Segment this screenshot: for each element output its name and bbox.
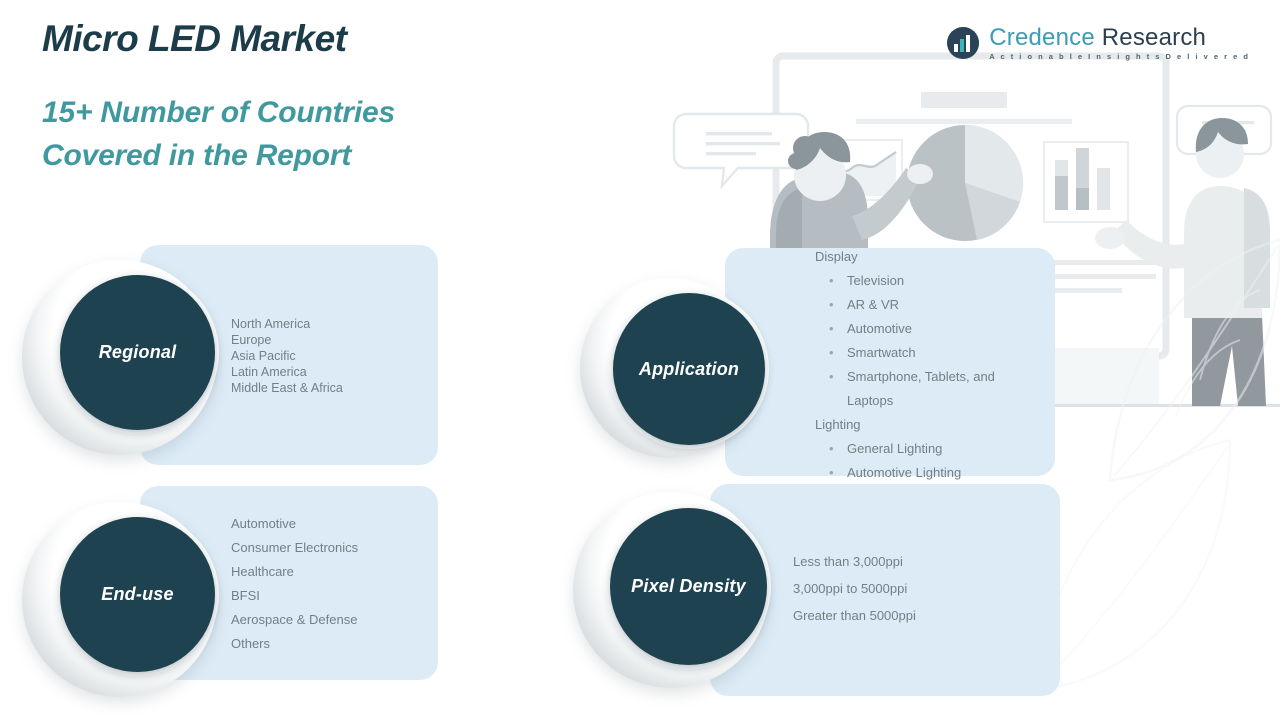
card-pixel-density-circle[interactable]: Pixel Density: [610, 508, 767, 665]
card-enduse: End-use Automotive Consumer Electronics …: [0, 482, 460, 710]
page-subtitle: 15+ Number of Countries Covered in the R…: [42, 91, 395, 178]
list-item: BFSI: [231, 584, 436, 608]
page-subtitle-line-2: Covered in the Report: [42, 134, 395, 178]
bullet-icon: •: [815, 341, 847, 365]
card-pixel-density-list: Less than 3,000ppi 3,000ppi to 5000ppi G…: [793, 548, 1043, 629]
card-enduse-circle[interactable]: End-use: [60, 517, 215, 672]
page-subtitle-line-1: 15+ Number of Countries: [42, 91, 395, 135]
list-item: Less than 3,000ppi: [793, 548, 1043, 575]
logo-text: Credence Research A c t i o n a b l e I …: [989, 26, 1250, 61]
card-pixel-density: Pixel Density Less than 3,000ppi 3,000pp…: [555, 470, 1075, 720]
leaf-watermark-icon: [1090, 230, 1280, 510]
list-item: • Smartwatch: [815, 341, 1075, 365]
group-heading-lighting: Lighting: [815, 413, 1075, 437]
list-item: • AR & VR: [815, 293, 1075, 317]
list-item: Healthcare: [231, 560, 436, 584]
list-item: Latin America: [231, 364, 436, 380]
title-block: Micro LED Market 15+ Number of Countries…: [42, 18, 395, 178]
card-application: Application Display • Television • AR & …: [555, 235, 1075, 485]
card-application-list: Display • Television • AR & VR • Automot…: [815, 245, 1075, 485]
bullet-icon: •: [815, 317, 847, 341]
list-item: Automotive: [231, 512, 436, 536]
list-item: Others: [231, 632, 436, 656]
page-title: Micro LED Market: [42, 18, 395, 61]
card-regional-list: North America Europe Asia Pacific Latin …: [231, 316, 436, 396]
card-regional-circle[interactable]: Regional: [60, 275, 215, 430]
group-heading-display: Display: [815, 245, 1075, 269]
logo-name-part2: Research: [1095, 24, 1206, 51]
card-enduse-list: Automotive Consumer Electronics Healthca…: [231, 512, 436, 656]
logo-name-part1: Credence: [989, 24, 1095, 51]
bullet-icon: •: [815, 293, 847, 317]
logo-tagline: A c t i o n a b l e I n s i g h t s D e …: [989, 53, 1250, 61]
list-item: Europe: [231, 332, 436, 348]
list-item: • Television: [815, 269, 1075, 293]
list-item: Aerospace & Defense: [231, 608, 436, 632]
brand-logo[interactable]: Credence Research A c t i o n a b l e I …: [946, 26, 1250, 61]
bullet-icon: •: [815, 269, 847, 293]
list-item: • Automotive: [815, 317, 1075, 341]
speech-bubble-right: [1177, 106, 1271, 169]
list-item: Greater than 5000ppi: [793, 602, 1043, 629]
list-item: Asia Pacific: [231, 348, 436, 364]
logo-name: Credence Research: [989, 26, 1250, 50]
speech-bubble-left: [674, 114, 808, 186]
card-regional-label: Regional: [99, 342, 177, 363]
bullet-icon: •: [815, 365, 847, 389]
slide-canvas: Micro LED Market 15+ Number of Countries…: [0, 0, 1280, 720]
list-item: Consumer Electronics: [231, 536, 436, 560]
card-regional: Regional North America Europe Asia Pacif…: [0, 235, 460, 480]
card-application-circle[interactable]: Application: [613, 293, 765, 445]
list-item: Middle East & Africa: [231, 380, 436, 396]
card-application-label: Application: [639, 359, 739, 380]
list-item: 3,000ppi to 5000ppi: [793, 575, 1043, 602]
list-item: North America: [231, 316, 436, 332]
bar-chart-circle-icon: [946, 26, 980, 60]
list-item: • Smartphone, Tablets, and Laptops: [815, 365, 1075, 413]
card-enduse-label: End-use: [101, 584, 173, 605]
list-item: • General Lighting: [815, 437, 1075, 461]
person-right: [1095, 118, 1270, 406]
card-pixel-density-label: Pixel Density: [631, 576, 746, 597]
bullet-icon: •: [815, 437, 847, 461]
